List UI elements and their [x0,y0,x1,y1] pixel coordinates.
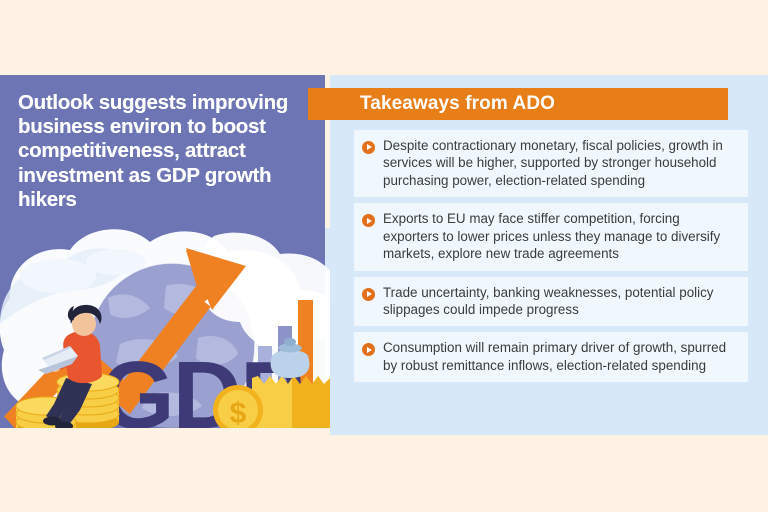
infographic-canvas: Outlook suggests improving business envi… [0,0,768,512]
takeaways-header-bar: Takeaways from ADO [308,88,728,120]
list-item: Consumption will remain primary driver o… [354,332,748,382]
gdp-growth-illustration: GDP [0,228,360,435]
takeaways-panel: Takeaways from ADO Despite contractionar… [330,75,768,435]
play-bullet-icon [362,141,375,154]
play-bullet-icon [362,343,375,356]
play-bullet-icon [362,214,375,227]
takeaways-title: Takeaways from ADO [360,93,555,115]
svg-text:$: $ [230,397,247,430]
page-title: Outlook suggests improving business envi… [18,91,314,212]
list-item: Trade uncertainty, banking weaknesses, p… [354,277,748,327]
list-item-text: Despite contractionary monetary, fiscal … [383,137,738,189]
dollar-coin-icon: $ [213,385,263,435]
play-bullet-icon [362,288,375,301]
list-item: Despite contractionary monetary, fiscal … [354,130,748,197]
list-item-text: Consumption will remain primary driver o… [383,339,738,374]
takeaways-list: Despite contractionary monetary, fiscal … [354,130,748,388]
list-item-text: Trade uncertainty, banking weaknesses, p… [383,284,738,319]
list-item-text: Exports to EU may face stiffer competiti… [383,210,738,262]
list-item: Exports to EU may face stiffer competiti… [354,203,748,270]
